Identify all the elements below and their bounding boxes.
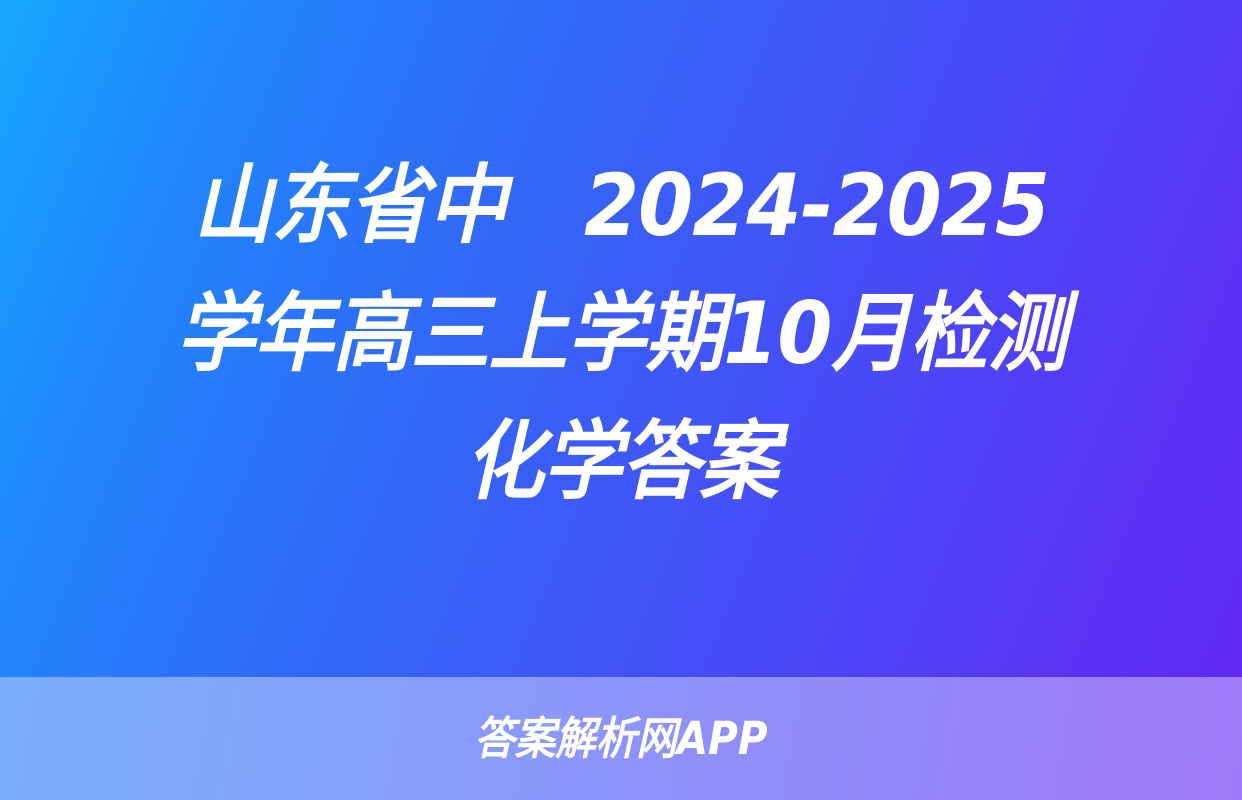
footer-watermark-label: 答案解析网APP (474, 716, 767, 761)
poster-title-block: 山东省中 2024-2025 学年高三上学期10月检测 化学答案 (0, 0, 1242, 677)
title-line-3: 化学答案 (50, 419, 1193, 505)
footer-watermark: 答案解析网APP (0, 677, 1242, 800)
title-line-2: 学年高三上学期10月检测 (50, 291, 1193, 377)
title-line-1: 山东省中 2024-2025 (50, 163, 1193, 249)
poster-canvas: 山东省中 2024-2025 学年高三上学期10月检测 化学答案 答案解析网AP… (0, 0, 1242, 800)
